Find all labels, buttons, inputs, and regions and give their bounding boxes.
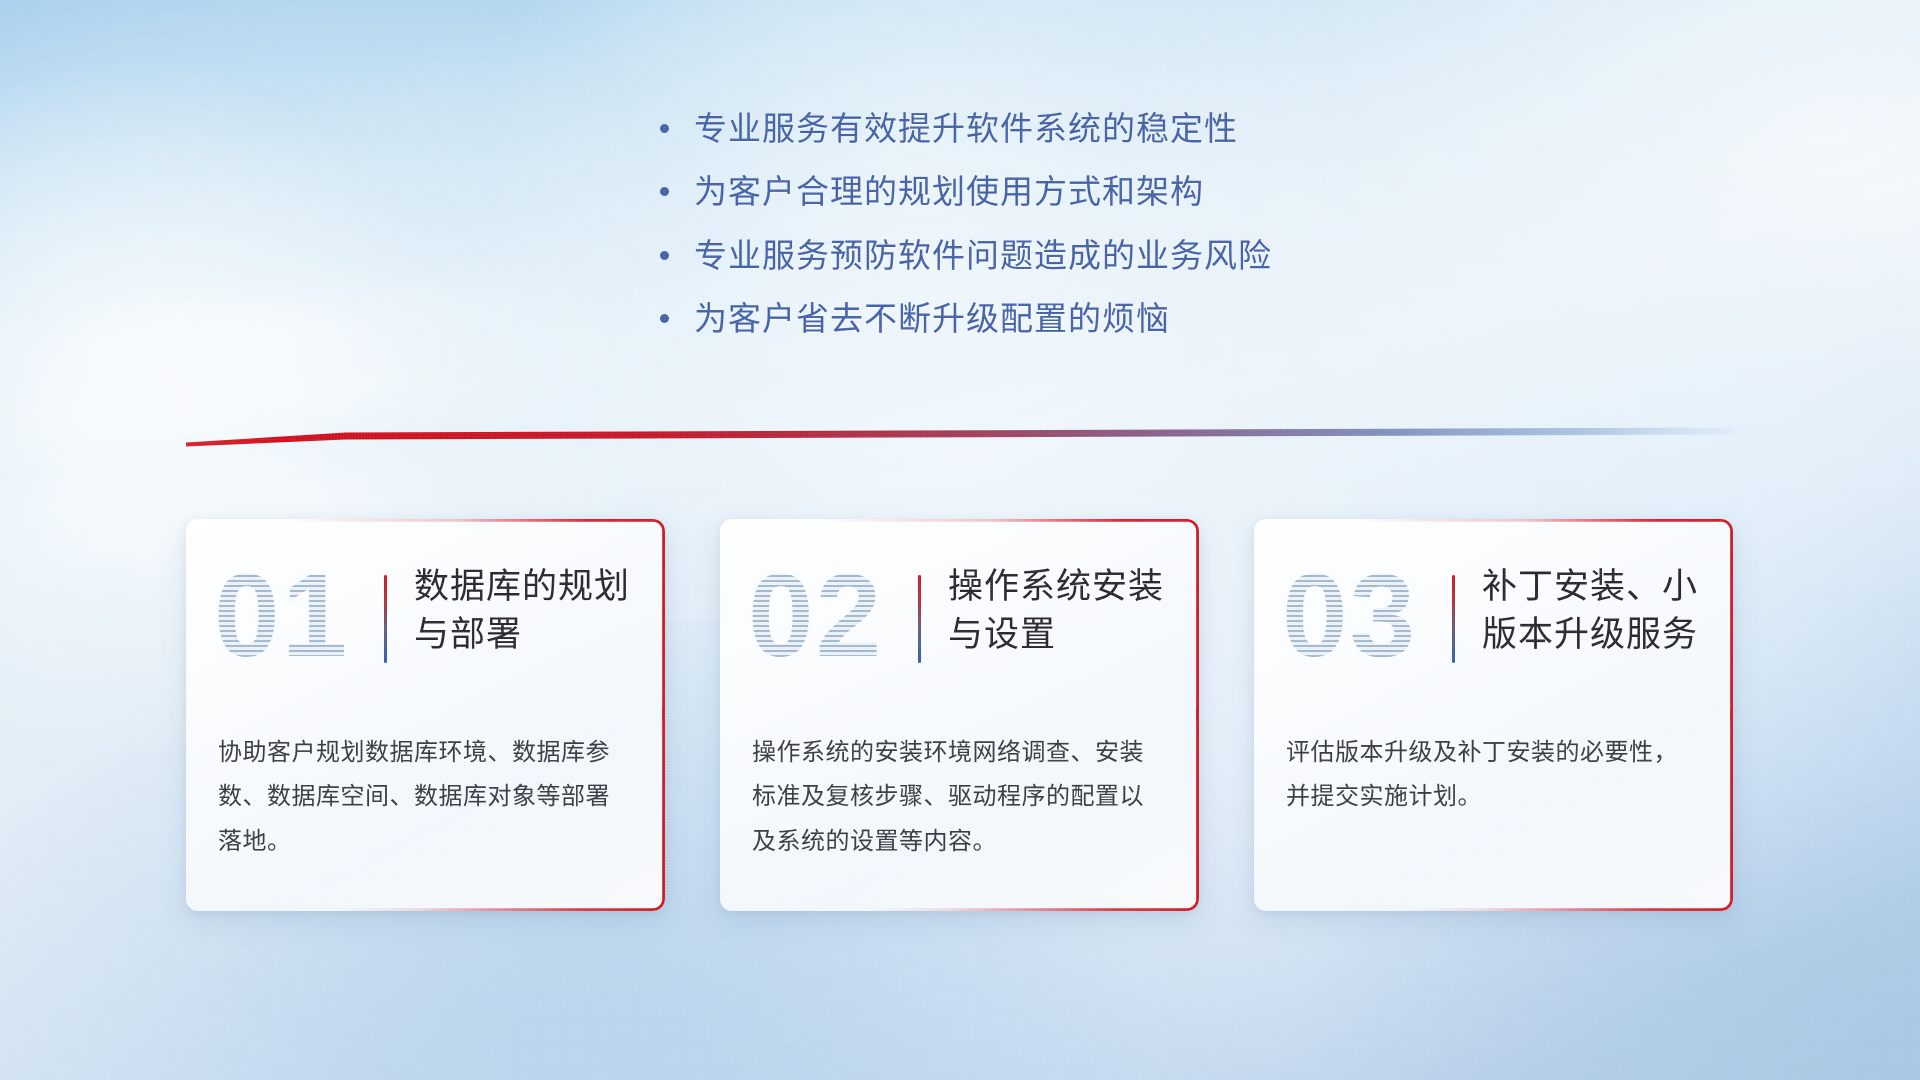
service-card-group: 01 01 数据库的规划与部署 协助客户规划数据库环境、数据库参数、数据库空间、… [186, 519, 1734, 911]
card-description: 协助客户规划数据库环境、数据库参数、数据库空间、数据库对象等部署落地。 [218, 731, 632, 864]
list-item: 为客户省去不断升级配置的烦恼 [660, 298, 1272, 339]
bullet-label: 专业服务预防软件问题造成的业务风险 [694, 235, 1272, 276]
card-description: 操作系统的安装环境网络调查、安装标准及复核步骤、驱动程序的配置以及系统的设置等内… [752, 731, 1166, 864]
service-card[interactable]: 03 03 补丁安装、小版本升级服务 评估版本升级及补丁安装的必要性，并提交实施… [1254, 519, 1733, 911]
bullet-label: 专业服务有效提升软件系统的稳定性 [694, 108, 1238, 149]
card-header: 02 02 操作系统安装与设置 [720, 519, 1199, 715]
service-card[interactable]: 02 02 操作系统安装与设置 操作系统的安装环境网络调查、安装标准及复核步骤、… [720, 519, 1199, 911]
card-title: 操作系统安装与设置 [948, 563, 1184, 660]
card-title-rule [1452, 575, 1455, 663]
section-divider [186, 426, 1734, 452]
list-item: 专业服务预防软件问题造成的业务风险 [660, 235, 1272, 276]
benefit-bullet-list: 专业服务有效提升软件系统的稳定性 为客户合理的规划使用方式和架构 专业服务预防软… [660, 108, 1272, 339]
card-number-watermark: 02 [748, 555, 908, 677]
bullet-dot-icon [660, 251, 694, 260]
slide-root: 专业服务有效提升软件系统的稳定性 为客户合理的规划使用方式和架构 专业服务预防软… [0, 0, 1920, 1080]
card-number-watermark: 01 [214, 555, 374, 677]
bullet-dot-icon [660, 314, 694, 323]
bullet-label: 为客户省去不断升级配置的烦恼 [694, 298, 1170, 339]
card-title-rule [384, 575, 387, 663]
bullet-label: 为客户合理的规划使用方式和架构 [694, 171, 1204, 212]
background-light-streak-upper [0, 265, 624, 455]
card-header: 01 01 数据库的规划与部署 [186, 519, 665, 715]
list-item: 专业服务有效提升软件系统的稳定性 [660, 108, 1272, 149]
card-title-rule [918, 575, 921, 663]
divider-wedge-shape [186, 426, 1734, 452]
card-header: 03 03 补丁安装、小版本升级服务 [1254, 519, 1733, 715]
card-description: 评估版本升级及补丁安装的必要性，并提交实施计划。 [1286, 731, 1700, 820]
service-card[interactable]: 01 01 数据库的规划与部署 协助客户规划数据库环境、数据库参数、数据库空间、… [186, 519, 665, 911]
card-title: 数据库的规划与部署 [414, 563, 650, 660]
bullet-dot-icon [660, 124, 694, 133]
card-title: 补丁安装、小版本升级服务 [1482, 563, 1718, 660]
bullet-dot-icon [660, 187, 694, 196]
list-item: 为客户合理的规划使用方式和架构 [660, 171, 1272, 212]
card-number-watermark: 03 [1282, 555, 1442, 677]
